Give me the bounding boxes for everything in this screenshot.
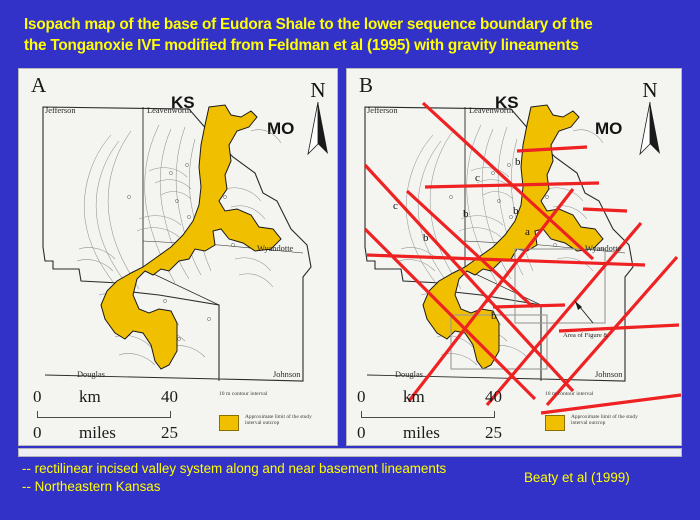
- figure8-pointer: [575, 301, 593, 323]
- panel-b-scale: 0 km 40 0 miles 25: [357, 387, 527, 446]
- legend-contour-text: 10 m contour interval: [545, 391, 660, 397]
- lineament-label: c: [475, 172, 480, 184]
- county-label: Jefferson: [367, 106, 398, 115]
- lineament-label: c: [393, 200, 398, 212]
- scale-miles-unit: miles: [403, 423, 440, 443]
- scale-km-zero: 0: [33, 387, 42, 407]
- county-label: Wyandotte: [257, 244, 294, 253]
- county-label: Douglas: [395, 370, 423, 379]
- county-label: Johnson: [595, 370, 623, 379]
- lineament-label: b: [463, 208, 469, 220]
- gravity-lineaments: [365, 103, 681, 413]
- scale-miles-max: 25: [485, 423, 502, 443]
- scale-miles-zero: 0: [33, 423, 42, 443]
- footer-bullet-2: -- Northeastern Kansas: [22, 478, 446, 496]
- county-label: Leavenworth: [469, 106, 514, 115]
- county-label: Johnson: [273, 370, 301, 379]
- title-line-2: the Tonganoxie IVF modified from Feldman…: [24, 35, 682, 56]
- legend-outcrop-swatch: [219, 415, 239, 431]
- slide-root: Isopach map of the base of Eudora Shale …: [0, 0, 700, 520]
- lineament-label: b: [515, 156, 521, 168]
- scale-km-unit: km: [79, 387, 101, 407]
- figure8-annotation: Area of Figure 8.: [563, 332, 609, 339]
- title-line-1: Isopach map of the base of Eudora Shale …: [24, 14, 682, 35]
- scale-miles-zero: 0: [357, 423, 366, 443]
- map-panel-a[interactable]: A KS MO N: [18, 68, 338, 446]
- panel-a-scale: 0 km 40 0 miles 25: [33, 387, 203, 446]
- scale-miles-max: 25: [161, 423, 178, 443]
- legend-outcrop-text: Approximate limit of the study interval …: [571, 414, 649, 427]
- scale-bar: [37, 411, 171, 418]
- county-label: Wyandotte: [585, 244, 622, 253]
- lineament-label: b: [423, 232, 429, 244]
- panel-b-legend: 10 m contour interval Approximate limit …: [545, 391, 660, 415]
- footer-bullet-1: -- rectilinear incised valley system alo…: [22, 460, 446, 478]
- county-label: Leavenworth: [147, 106, 192, 115]
- footer-bullets: -- rectilinear incised valley system alo…: [22, 460, 446, 496]
- footer-credit: Beaty et al (1999): [524, 470, 630, 485]
- lineament-label: a: [525, 226, 530, 238]
- county-label: Douglas: [77, 370, 105, 379]
- slide-title: Isopach map of the base of Eudora Shale …: [24, 14, 682, 56]
- legend-outcrop-swatch: [545, 415, 565, 431]
- scale-km-unit: km: [403, 387, 425, 407]
- scale-km-max: 40: [161, 387, 178, 407]
- lineament-label: b: [491, 310, 497, 322]
- panel-underline-strip: [18, 448, 682, 457]
- map-panel-b[interactable]: B KS MO N: [346, 68, 682, 446]
- county-label: Jefferson: [45, 106, 76, 115]
- scale-km-zero: 0: [357, 387, 366, 407]
- scale-bar: [361, 411, 495, 418]
- legend-contour-text: 10 m contour interval: [219, 391, 329, 397]
- lineament-label: b: [513, 205, 519, 217]
- scale-miles-unit: miles: [79, 423, 116, 443]
- outcrop-shape-a: [101, 105, 281, 369]
- legend-outcrop-text: Approximate limit of the study interval …: [245, 414, 323, 427]
- panel-a-legend: 10 m contour interval Approximate limit …: [219, 391, 329, 415]
- scale-km-max: 40: [485, 387, 502, 407]
